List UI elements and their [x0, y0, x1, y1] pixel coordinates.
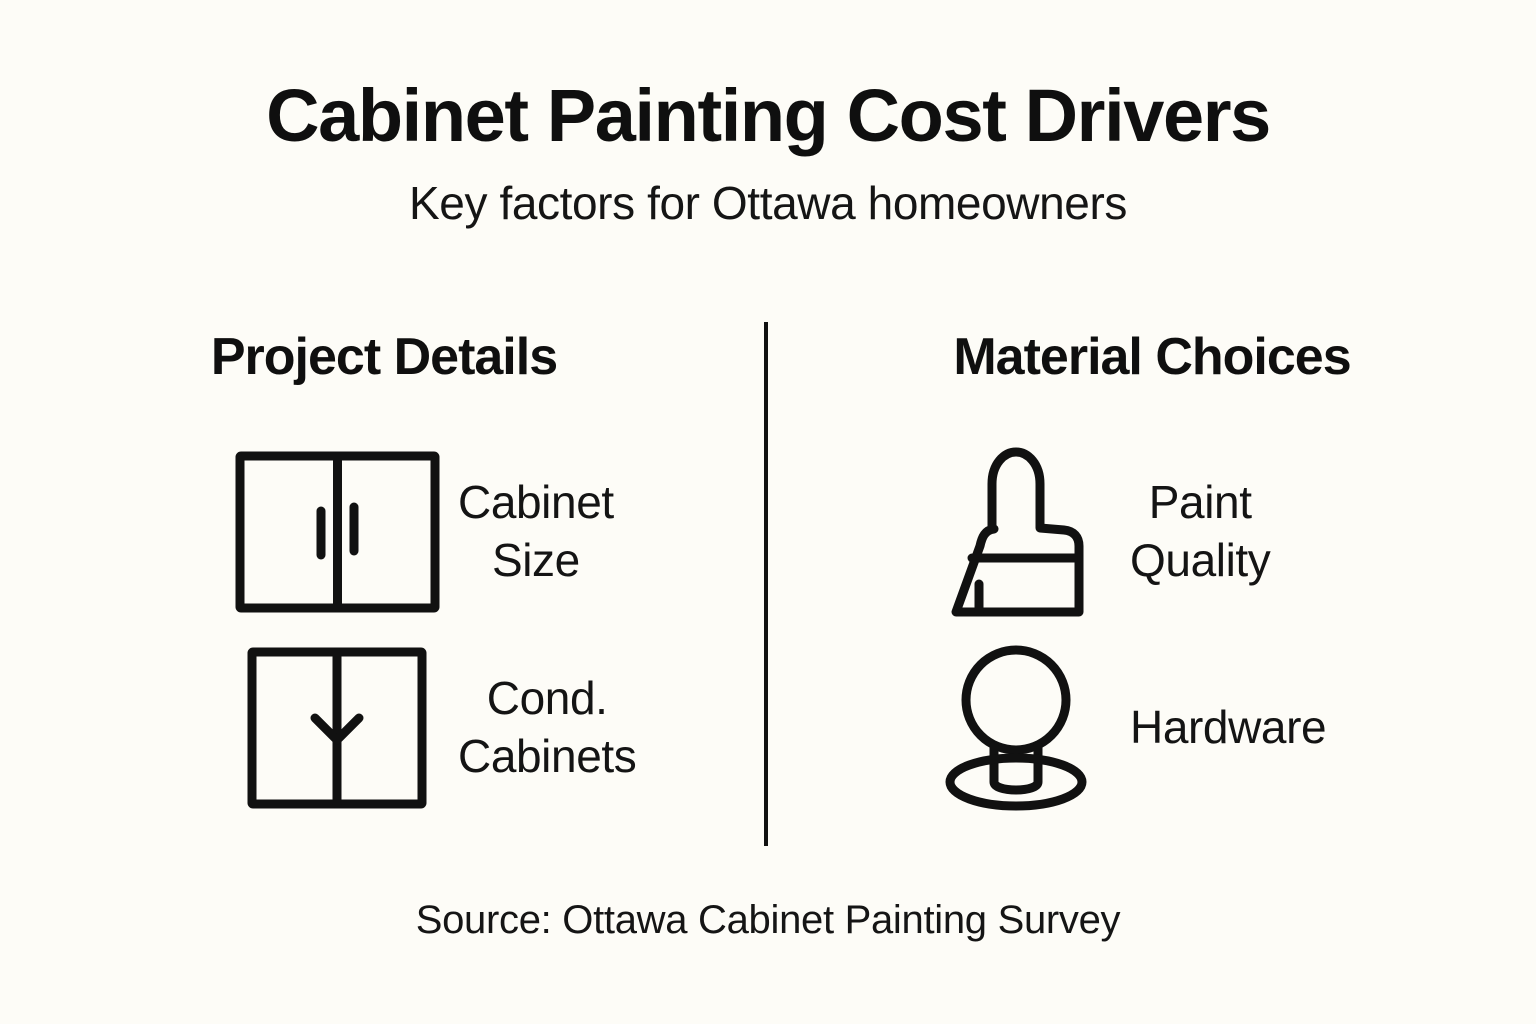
- page-subtitle: Key factors for Ottawa homeowners: [0, 179, 1536, 227]
- column-heading-project-details: Project Details: [0, 330, 768, 385]
- list-item-hardware: Hardware: [768, 630, 1536, 826]
- rows-material-choices: Paint Quality Hardware: [768, 434, 1536, 826]
- list-item-label: Cabinet Size: [442, 474, 614, 590]
- infographic-canvas: Cabinet Painting Cost Drivers Key factor…: [0, 0, 1536, 1024]
- list-item-cabinet-size: Cabinet Size: [0, 434, 768, 630]
- list-item-label: Cond. Cabinets: [442, 670, 636, 786]
- source-attribution: Source: Ottawa Cabinet Painting Survey: [0, 898, 1536, 943]
- paintbrush-icon: [918, 442, 1114, 622]
- column-project-details: Project Details Cabinet Size: [0, 330, 768, 850]
- page-title: Cabinet Painting Cost Drivers: [0, 78, 1536, 155]
- list-item-cond-cabinets: Cond. Cabinets: [0, 630, 768, 826]
- list-item-paint-quality: Paint Quality: [768, 434, 1536, 630]
- footer: Source: Ottawa Cabinet Painting Survey: [0, 898, 1536, 943]
- column-material-choices: Material Choices Paint Quality: [768, 330, 1536, 850]
- header: Cabinet Painting Cost Drivers Key factor…: [0, 78, 1536, 227]
- cabinet-knob-icon: [918, 638, 1114, 818]
- list-item-label: Paint Quality: [1114, 474, 1270, 590]
- columns-container: Project Details Cabinet Size: [0, 330, 1536, 850]
- list-item-label: Hardware: [1114, 699, 1326, 757]
- rows-project-details: Cabinet Size Cond. Cabinets: [0, 434, 768, 826]
- cabinet-doors-icon: [232, 442, 442, 622]
- column-heading-material-choices: Material Choices: [768, 330, 1536, 385]
- cabinet-condition-arrow-icon: [232, 638, 442, 818]
